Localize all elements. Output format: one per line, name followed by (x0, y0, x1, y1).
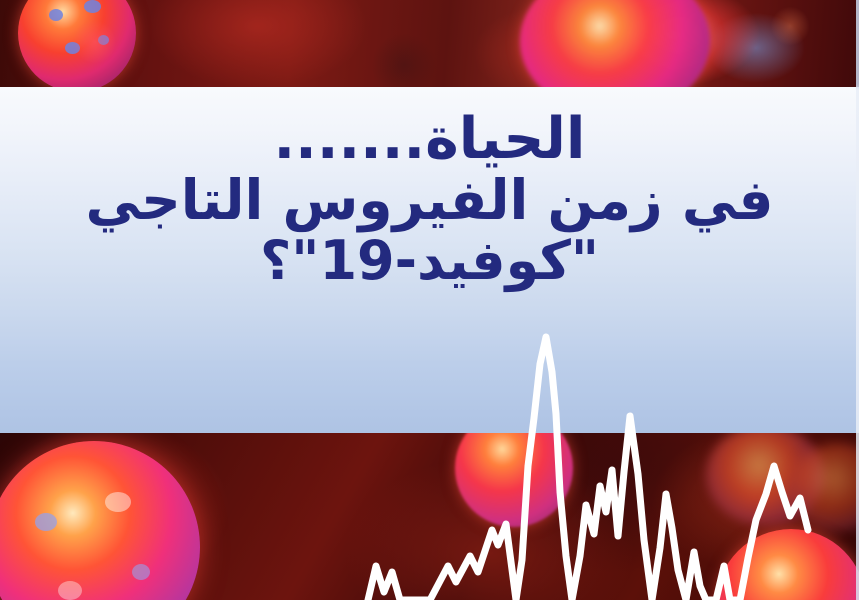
coronavirus-particle-icon (455, 433, 573, 527)
coronavirus-particle-icon (0, 441, 200, 600)
title-line-3: "كوفيد-19"؟ (0, 232, 859, 289)
title-line-1: الحياة....... (0, 109, 859, 169)
coronavirus-particle-icon (520, 0, 710, 87)
coronavirus-particle-icon (716, 529, 859, 600)
title-line-2: في زمن الفيروس التاجي (0, 171, 859, 229)
top-virus-band (0, 0, 859, 87)
page-title: الحياة....... في زمن الفيروس التاجي "كوف… (0, 109, 859, 289)
title-panel: الحياة....... في زمن الفيروس التاجي "كوف… (0, 87, 859, 433)
covid-poster: الحياة....... في زمن الفيروس التاجي "كوف… (0, 0, 859, 600)
bottom-virus-band (0, 433, 859, 600)
coronavirus-particle-icon (18, 0, 136, 87)
